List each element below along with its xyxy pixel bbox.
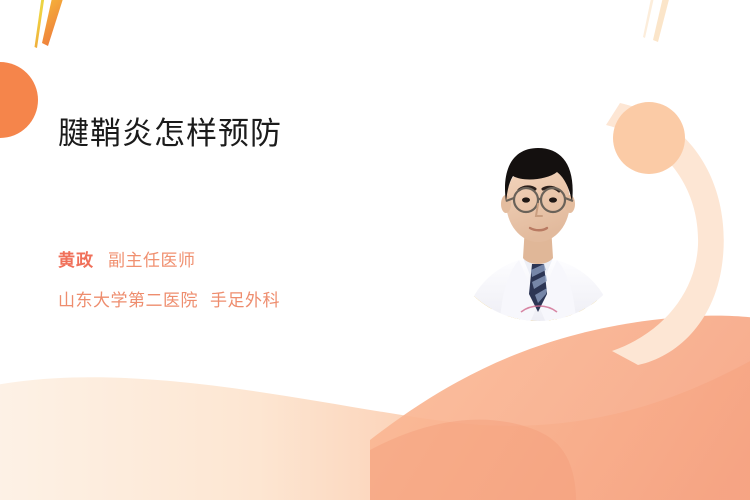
circle-left-orange-icon	[0, 62, 38, 138]
doctor-hospital: 山东大学第二医院	[58, 291, 198, 310]
stripes-top-right-icon	[636, 0, 726, 50]
doctor-info-card: 腱鞘炎怎样预防 黄政副主任医师 山东大学第二医院手足外科	[0, 0, 750, 500]
doctor-portrait	[443, 98, 633, 348]
doctor-hospital-row: 山东大学第二医院手足外科	[58, 288, 280, 314]
doctor-professional-title: 副主任医师	[108, 251, 196, 270]
stripes-top-left-icon	[20, 0, 110, 62]
wave-bottom-decoration	[0, 330, 750, 500]
doctor-name: 黄政	[58, 251, 94, 270]
doctor-department: 手足外科	[210, 291, 280, 310]
page-title: 腱鞘炎怎样预防	[58, 112, 282, 156]
doctor-name-row: 黄政副主任医师	[58, 248, 196, 274]
